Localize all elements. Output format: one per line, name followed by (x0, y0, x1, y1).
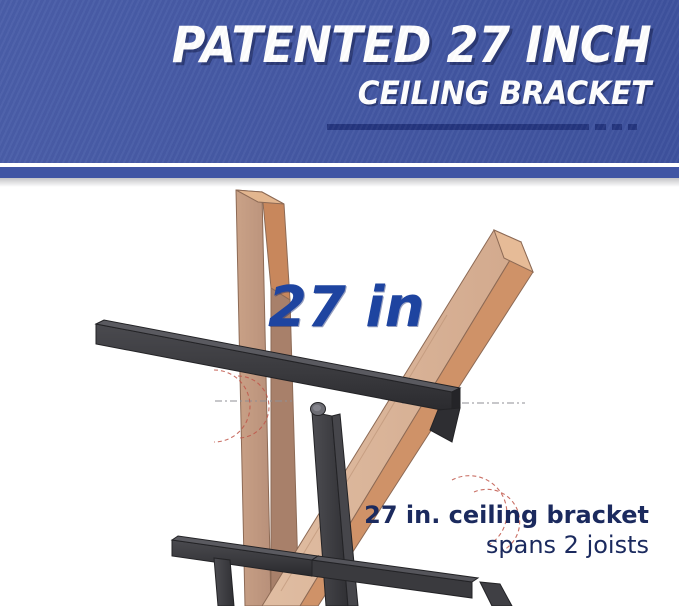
caption-block: 27 in. ceiling bracket spans 2 joists (364, 500, 649, 560)
header-banner: PATENTED 27 INCH CEILING BRACKET (0, 0, 679, 163)
headline: PATENTED 27 INCH (171, 18, 651, 72)
subheadline: CEILING BRACKET (166, 74, 651, 112)
caption-line-1: 27 in. ceiling bracket (364, 500, 649, 530)
lower-bracket-post (214, 558, 234, 606)
left-joist (236, 190, 299, 606)
rule-bar (327, 124, 589, 130)
dimension-label: 27 in (268, 280, 425, 336)
decorative-rule (130, 124, 637, 130)
rule-dash-3 (628, 124, 637, 130)
caption-line-2: spans 2 joists (364, 530, 649, 560)
bracket-rivet (311, 403, 326, 416)
right-bracket-leg (480, 582, 512, 606)
rule-dash-1 (595, 124, 606, 130)
banner-text-block: PATENTED 27 INCH CEILING BRACKET (130, 18, 651, 130)
banner-accent-strip (0, 167, 679, 178)
rule-dash-2 (612, 124, 622, 130)
product-feature-graphic: PATENTED 27 INCH CEILING BRACKET (0, 0, 679, 606)
